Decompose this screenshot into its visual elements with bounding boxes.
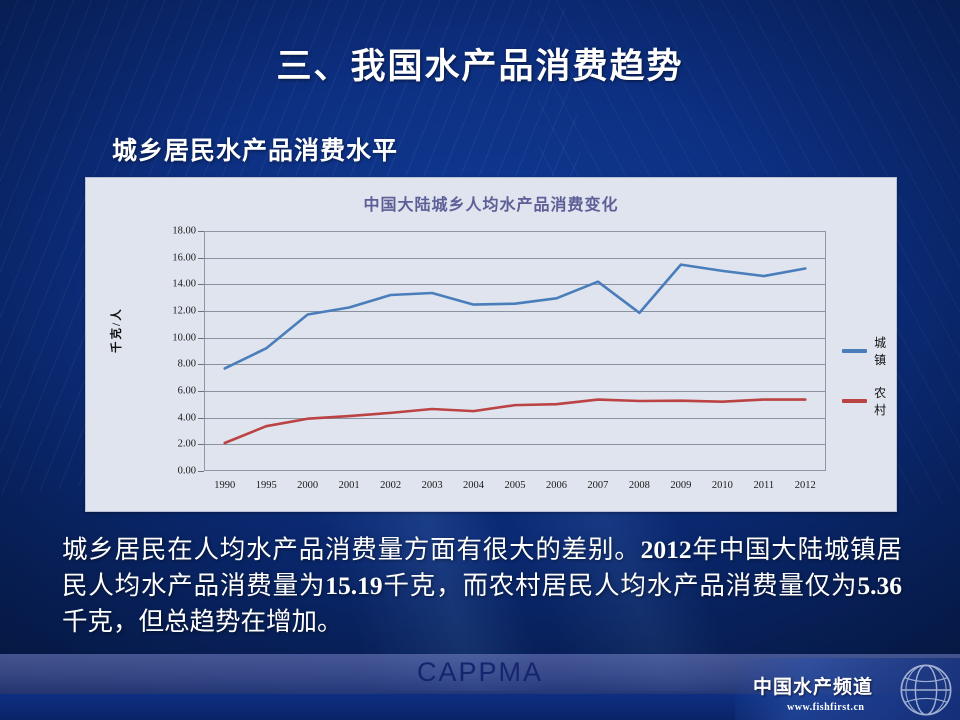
brand-url-label: www.fishfirst.cn [787, 702, 864, 713]
y-tick-mark [198, 471, 204, 472]
x-tick-label: 2008 [629, 480, 650, 491]
y-tick-label: 2.00 [178, 439, 196, 450]
legend-label: 城镇 [874, 334, 896, 368]
x-tick-label: 1995 [256, 480, 277, 491]
y-tick-label: 12.00 [172, 306, 196, 317]
chart-plot-area: 0.002.004.006.008.0010.0012.0014.0016.00… [204, 231, 826, 471]
x-tick-label: 2009 [670, 480, 691, 491]
brand-logo[interactable]: 中国水产频道 www.fishfirst.cn [735, 658, 960, 720]
x-tick-label: 2007 [587, 480, 608, 491]
legend-label: 农村 [874, 384, 896, 418]
x-tick-label: 2011 [753, 480, 774, 491]
slide-canvas: 三、我国水产品消费趋势 城乡居民水产品消费水平 中国大陆城乡人均水产品消费变化 … [0, 0, 960, 720]
x-tick-label: 2012 [795, 480, 816, 491]
y-tick-label: 0.00 [178, 466, 196, 477]
y-tick-label: 10.00 [172, 332, 196, 343]
body-text-segment: 千克，而农村居民人均水产品消费量仅为 [383, 571, 858, 600]
x-tick-label: 2010 [712, 480, 733, 491]
y-tick-label: 14.00 [172, 279, 196, 290]
body-paragraph: 城乡居民在人均水产品消费量方面有很大的差别。2012年中国大陆城镇居民人均水产品… [62, 532, 902, 640]
slide-title: 三、我国水产品消费趋势 [0, 38, 960, 89]
x-tick-label: 2006 [546, 480, 567, 491]
chart-series-line [225, 400, 806, 443]
body-text-segment: 千克，但总趋势在增加。 [62, 607, 343, 636]
globe-icon [898, 662, 954, 718]
brand-name-label: 中国水产频道 [753, 672, 873, 699]
body-text-segment: 城乡居民在人均水产品消费量方面有很大的差别。 [62, 535, 641, 564]
x-tick-label: 2002 [380, 480, 401, 491]
y-tick-label: 8.00 [178, 359, 196, 370]
x-tick-label: 2003 [422, 480, 443, 491]
chart-title: 中国大陆城乡人均水产品消费变化 [86, 191, 896, 215]
x-tick-label: 2001 [339, 480, 360, 491]
legend-color-swatch [842, 399, 867, 403]
chart-legend: 城镇农村 [842, 334, 896, 418]
legend-item[interactable]: 农村 [842, 384, 896, 418]
chart-series-line [225, 265, 806, 369]
x-tick-label: 1990 [214, 480, 235, 491]
y-tick-label: 6.00 [178, 386, 196, 397]
legend-item[interactable]: 城镇 [842, 334, 896, 368]
body-text-segment: 5.36 [857, 571, 902, 600]
legend-color-swatch [842, 349, 867, 353]
slide-subtitle: 城乡居民水产品消费水平 [112, 131, 398, 167]
x-tick-label: 2004 [463, 480, 484, 491]
body-text-segment: 15.19 [325, 571, 382, 600]
chart-panel: 中国大陆城乡人均水产品消费变化 千克/人 0.002.004.006.008.0… [85, 177, 897, 512]
chart-y-axis-label: 千克/人 [108, 307, 124, 353]
x-tick-label: 2005 [505, 480, 526, 491]
y-tick-label: 16.00 [172, 252, 196, 263]
body-text-segment: 2012 [641, 535, 692, 564]
y-tick-label: 4.00 [178, 412, 196, 423]
y-tick-label: 18.00 [172, 226, 196, 237]
x-tick-label: 2000 [297, 480, 318, 491]
chart-series-layer [204, 231, 826, 471]
